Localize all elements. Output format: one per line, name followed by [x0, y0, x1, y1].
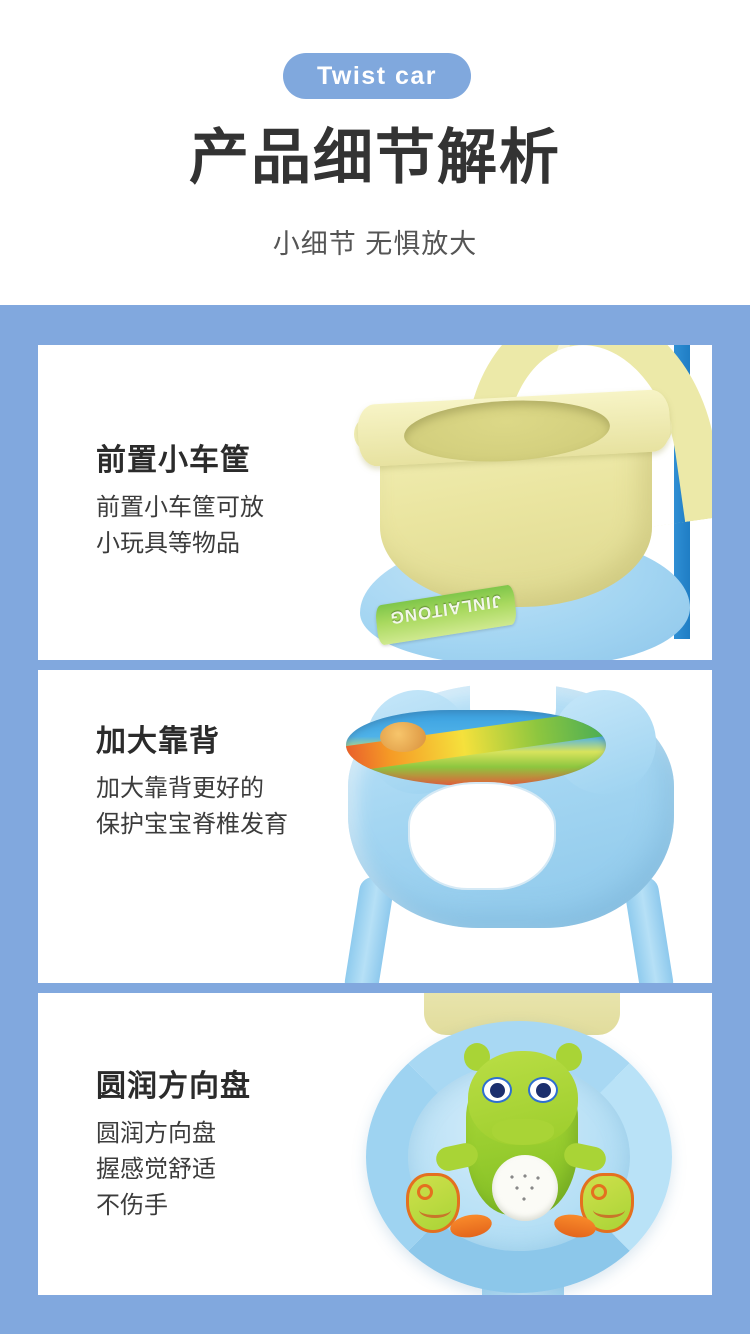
decal-smile-left [419, 1202, 451, 1218]
detail-card-steering-wheel[interactable]: 圆润方向盘 圆润方向盘 握感觉舒适 不伤手 [38, 993, 712, 1295]
decal-smile-right [593, 1202, 625, 1218]
card-description: 圆润方向盘 握感觉舒适 不伤手 [96, 1116, 251, 1224]
backrest-grip-hole [408, 782, 556, 890]
card-title: 圆润方向盘 [96, 1067, 251, 1107]
product-badge-label: Twist car [317, 62, 437, 91]
hippo-snout-shape [492, 1119, 554, 1145]
hippo-eye-left [482, 1077, 512, 1103]
product-badge: Twist car [283, 53, 471, 99]
card-text-block: 加大靠背 加大靠背更好的 保护宝宝脊椎发育 [96, 722, 288, 843]
card-title: 加大靠背 [96, 722, 288, 762]
hippo-eye-right [528, 1077, 558, 1103]
page-subtitle: 小细节 无惧放大 [0, 224, 750, 264]
decal-dot-right [591, 1184, 607, 1200]
front-basket-photo: JINLAITONG [352, 345, 712, 660]
detail-panel: JINLAITONG 前置小车筐 前置小车筐可放 小玩具等物品 加大靠背 加大靠… [0, 305, 750, 1334]
detail-card-backrest[interactable]: 加大靠背 加大靠背更好的 保护宝宝脊椎发育 [38, 670, 712, 983]
card-description: 前置小车筐可放 小玩具等物品 [96, 490, 264, 562]
enlarged-backrest-photo [312, 670, 712, 983]
page-title: 产品细节解析 [0, 120, 750, 196]
detail-card-front-basket[interactable]: JINLAITONG 前置小车筐 前置小车筐可放 小玩具等物品 [38, 345, 712, 660]
speaker-grille [492, 1155, 558, 1221]
card-text-block: 圆润方向盘 圆润方向盘 握感觉舒适 不伤手 [96, 1067, 251, 1224]
page-header: Twist car 产品细节解析 小细节 无惧放大 [0, 0, 750, 305]
card-text-block: 前置小车筐 前置小车筐可放 小玩具等物品 [96, 441, 264, 562]
card-title: 前置小车筐 [96, 441, 264, 481]
decal-dot-left [417, 1184, 433, 1200]
steering-wheel-photo [332, 993, 712, 1295]
card-description: 加大靠背更好的 保护宝宝脊椎发育 [96, 771, 288, 843]
